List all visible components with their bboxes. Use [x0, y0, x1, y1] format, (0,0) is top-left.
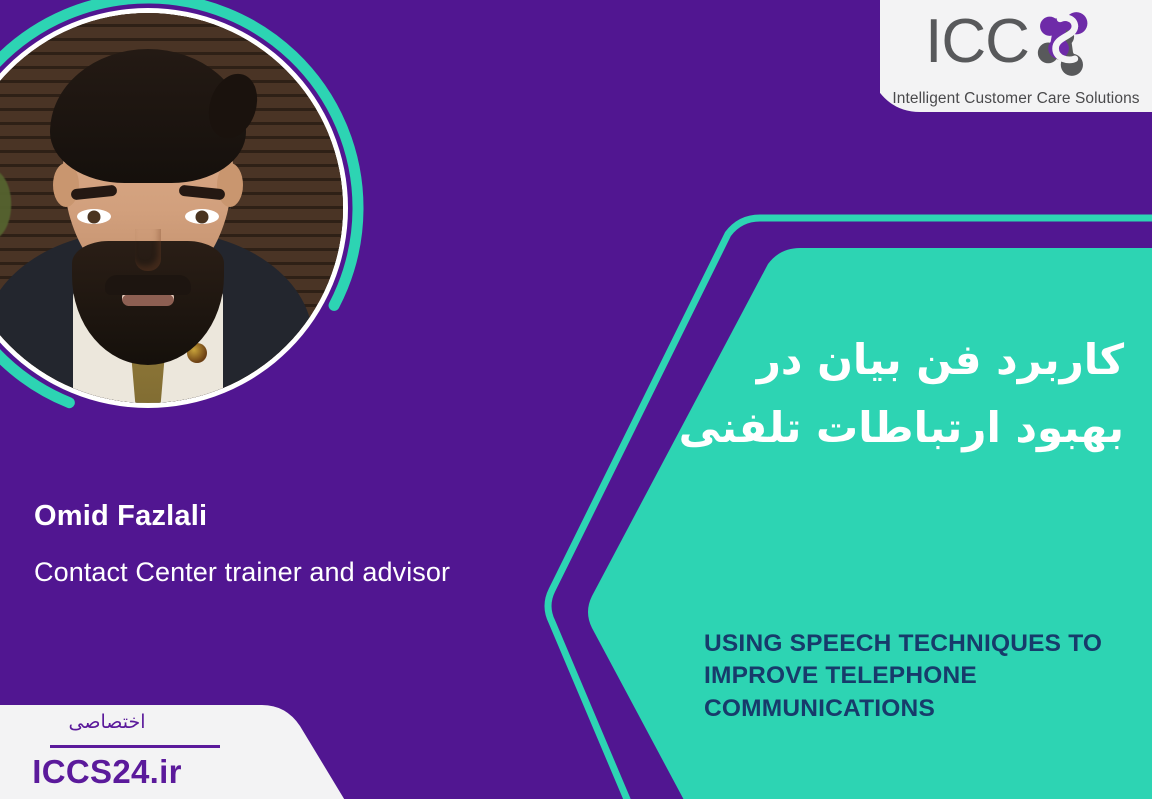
persian-title-line-1: کاربرد فن بیان در	[604, 326, 1124, 394]
english-title: USING SPEECH TECHNIQUES TO IMPROVE TELEP…	[704, 628, 1152, 725]
speaker-portrait	[0, 8, 348, 408]
portrait-photo	[0, 13, 343, 403]
persian-title-line-2: بهبود ارتباطات تلفنی	[604, 394, 1124, 462]
persian-title: کاربرد فن بیان در بهبود ارتباطات تلفنی	[604, 326, 1124, 462]
photo-plant	[0, 133, 13, 263]
webinar-poster: ICC Intelligent Customer Care Solutions	[0, 0, 1152, 799]
photo-nose	[135, 229, 161, 271]
speaker-role: Contact Center trainer and advisor	[34, 557, 450, 588]
speaker-name: Omid Fazlali	[34, 500, 207, 533]
photo-eye-right	[185, 209, 219, 224]
photo-moustache	[105, 275, 191, 295]
photo-eye-left	[77, 209, 111, 224]
